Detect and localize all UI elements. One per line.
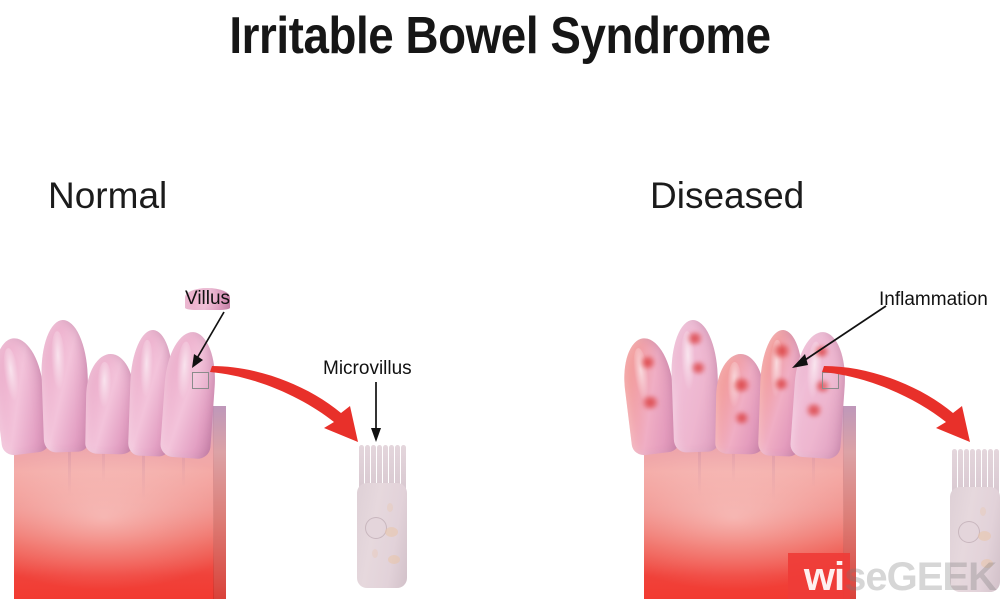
nucleus (365, 517, 387, 539)
illustration-canvas: Irritable Bowel Syndrome Normal Diseased (0, 0, 1000, 599)
label-inflammation: Inflammation (879, 289, 988, 311)
granule (387, 503, 393, 512)
panel-caption-diseased: Diseased (650, 175, 804, 217)
page-title: Irritable Bowel Syndrome (60, 8, 940, 65)
pointer-arrow-villus (184, 310, 228, 372)
villus (40, 319, 91, 453)
granule (385, 527, 398, 537)
watermark: wiseGEEK (804, 557, 996, 597)
watermark-part-2: seGEEK (844, 555, 996, 599)
pointer-arrow-microvillus (366, 382, 386, 444)
inflammation-spot (639, 355, 656, 370)
inflammation-spot (731, 378, 751, 392)
magnified-region-square (192, 372, 209, 389)
magnify-arrow-right (820, 366, 980, 456)
inflammation-spot (690, 362, 706, 375)
inflammation-spot (640, 395, 660, 410)
inflammation-spot (773, 378, 789, 391)
granule (980, 507, 986, 516)
cell-body (357, 483, 407, 588)
villus-inflamed (670, 319, 721, 453)
pointer-arrow-inflammation (786, 304, 890, 376)
watermark-part-1: wi (804, 555, 844, 599)
granule (978, 531, 991, 541)
panel-caption-normal: Normal (48, 175, 167, 217)
nucleus (958, 521, 980, 543)
inflammation-spot (686, 332, 703, 346)
label-microvillus: Microvillus (323, 358, 412, 380)
granule (372, 549, 378, 558)
granule (388, 555, 400, 564)
inflammation-spot (734, 412, 750, 424)
label-villus: Villus (185, 288, 230, 310)
